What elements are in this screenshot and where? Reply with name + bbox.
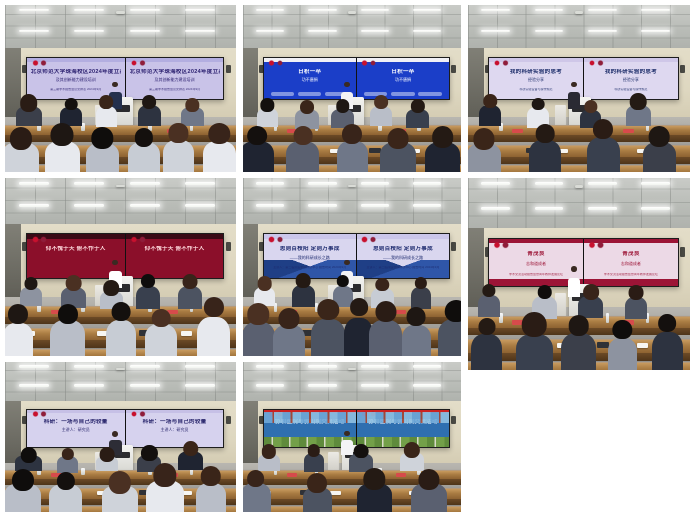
person-head [375, 301, 396, 322]
wall-speaker [451, 65, 456, 73]
person-shoulders [587, 137, 620, 172]
audience-member [5, 127, 39, 172]
person-head [20, 94, 38, 112]
ceiling-light [413, 9, 441, 12]
slide-footer: 科研实验设备与操作规范 [588, 88, 674, 92]
person-head [248, 303, 269, 324]
ceiling-light [130, 384, 160, 386]
slide-title: 青茂良 [493, 251, 579, 258]
person-shoulders [311, 319, 345, 356]
audience-member [478, 284, 499, 317]
person-head [537, 285, 552, 300]
presenter-head [112, 82, 118, 88]
ceiling-light [481, 207, 510, 210]
person-head [152, 309, 171, 328]
person-head [100, 447, 115, 462]
person-head [411, 99, 425, 113]
audience-member [357, 468, 392, 512]
ceiling-light [361, 182, 389, 185]
ceiling-projector [575, 11, 584, 13]
person-shoulders [516, 334, 552, 370]
person-shoulders [243, 141, 274, 172]
slide-title: 日积一卒 [361, 69, 446, 76]
person-shoulders [608, 338, 637, 370]
slide-subtitle: 经验分享 [588, 77, 674, 82]
person-head [10, 127, 32, 149]
wall-speaker [226, 242, 231, 251]
ceiling-light [130, 9, 160, 12]
person-head [613, 320, 632, 339]
slide-panel: 思则百枝阳 定则万事成——我的科研成长之路主讲人：第二临床医学院科研中心 报告时… [357, 234, 449, 278]
ceiling-light [256, 182, 284, 185]
university-logo-icon [268, 236, 274, 243]
ceiling [5, 5, 236, 50]
person-head [108, 471, 130, 493]
ceiling-light [361, 204, 389, 207]
ceiling-light [185, 365, 215, 367]
ceiling-light [19, 204, 49, 207]
slide-title: 北京师范大学珠海校区2024年度立高质量文化科研及教学能力建设培训 [130, 69, 220, 76]
university-logo-icon [589, 60, 596, 67]
person-head [65, 98, 78, 111]
lecture-hall-scene: 科研：一场与自己的较量主讲人：研究员科研：一场与自己的较量主讲人：研究员 [5, 362, 236, 512]
audience-member [102, 471, 138, 512]
ceiling-light [256, 204, 284, 207]
person-head [342, 124, 362, 144]
audience-member [145, 309, 177, 356]
person-head [337, 275, 349, 287]
ceiling-projector [348, 11, 357, 13]
ceiling-light [130, 182, 160, 185]
slide-panel: 科研：一场与自己的较量主讲人：研究员 [126, 410, 224, 447]
person-head [388, 128, 409, 149]
slide-title: 青茂良 [588, 251, 674, 258]
audience-member [16, 94, 42, 126]
person-head [58, 304, 78, 324]
side-cabinet [328, 452, 339, 472]
presenter-body [568, 92, 580, 109]
ceiling [468, 5, 690, 50]
person-head [318, 299, 339, 320]
slide-subtitle: 主讲人：研究员 [130, 427, 220, 432]
university-logo-icon [131, 60, 138, 67]
lecture-photo: 我的科研实验的思考经验分享科研实验设备与操作规范我的科研实验的思考经验分享科研实… [468, 5, 690, 172]
person-head [201, 466, 222, 487]
slide-panel: 仰不愧于天 俯不怍于人 [126, 234, 224, 278]
slide-footer: 第三期学术报告会议安排表 2024年9月 [130, 88, 220, 92]
person-shoulders [243, 322, 275, 356]
slide-subtitle: 经验分享 [493, 77, 579, 82]
person-head [374, 95, 388, 109]
person-head [649, 126, 670, 147]
slide-title: 思则百枝阳 定则万事成 [361, 246, 446, 253]
person-head [432, 126, 454, 148]
audience-member [625, 285, 648, 319]
ceiling [5, 178, 236, 226]
audience-member [254, 276, 276, 306]
audience-member [257, 98, 278, 126]
slide-campus-photo-strip [264, 412, 356, 422]
audience-member [50, 304, 84, 356]
audience-member [608, 320, 637, 370]
slide-subtitle: 功不唐捐 [361, 77, 446, 82]
slide-footer: 学术交流活动报告会暨青年教师发展论坛 [493, 273, 579, 277]
audience-member [273, 308, 305, 356]
presenter-head [344, 431, 349, 436]
lecture-hall-scene: 思则百枝阳 定则万事成——我的科研成长之路主讲人：第二临床医学院科研中心 报告时… [243, 178, 461, 356]
bench-back [5, 135, 236, 142]
ceiling-light [535, 182, 564, 185]
person-head [473, 128, 494, 149]
ceiling-light [413, 384, 441, 386]
audience-member [587, 119, 620, 172]
slide-title: 北京师范大学珠海校区2024年度立高质量文化科研及教学能力建设培训 [31, 69, 121, 76]
person-head [354, 444, 369, 459]
notebook-page [181, 331, 193, 335]
person-head [209, 123, 230, 144]
wall-speaker [680, 65, 685, 73]
university-logo-icon [131, 236, 138, 243]
presenter-head [571, 266, 576, 271]
person-head [257, 276, 272, 291]
lecture-hall-scene: 日积一卒功不唐捐日积一卒功不唐捐 [243, 5, 461, 172]
audience-member [402, 307, 431, 356]
ceiling-light [185, 384, 215, 386]
person-shoulders [561, 333, 596, 370]
wall-speaker [451, 416, 456, 424]
person-head [478, 318, 495, 335]
audience-member [136, 274, 160, 309]
secondary-logo-icon [40, 60, 47, 67]
secondary-logo-icon [370, 60, 376, 67]
person-head [300, 100, 314, 114]
person-shoulders [273, 325, 305, 356]
university-logo-icon [268, 60, 274, 67]
person-shoulders [203, 141, 236, 172]
lecture-hall-scene: 北京师范大学珠海校区2024年度立高质量文化科研及教学能力建设培训及其创新能力建… [5, 5, 236, 172]
ceiling-light [588, 207, 617, 210]
wall-speaker [680, 247, 685, 257]
slide-campus-photo-strip [357, 412, 449, 422]
ceiling-light [308, 9, 336, 12]
person-head [247, 470, 265, 488]
person-head [65, 275, 82, 292]
audience-member [5, 304, 33, 356]
slide-pill-row [271, 92, 349, 96]
name-card [512, 129, 523, 133]
university-logo-icon [131, 411, 138, 417]
notebook-page [637, 343, 648, 348]
slide-subtitle: 及其创新能力建设培训 [130, 77, 220, 82]
audience-member [243, 126, 274, 172]
person-head [415, 277, 427, 289]
audience-member [106, 302, 137, 356]
ceiling-light [19, 9, 49, 12]
ceiling-light [308, 182, 336, 185]
person-head [169, 123, 188, 142]
audience-member [163, 123, 194, 172]
slide-footer: 科研实验设备与操作规范 [493, 88, 579, 92]
ceiling-light [535, 9, 564, 12]
ceiling-light [641, 182, 670, 185]
ceiling-projector [348, 368, 357, 370]
lecture-photo: 协和医院与佛山院交流活动协和医院与佛山院交流活动 [243, 362, 461, 512]
audience-member [311, 299, 345, 356]
ceiling-projector [348, 185, 357, 187]
led-presentation-wall: 仰不愧于天 俯不怍于人仰不愧于天 俯不怍于人 [26, 233, 225, 279]
lecture-photo: 仰不愧于天 俯不怍于人仰不愧于天 俯不怍于人 [5, 178, 236, 356]
lecture-photo: 科研：一场与自己的较量主讲人：研究员科研：一场与自己的较量主讲人：研究员 [5, 362, 236, 512]
person-shoulders [196, 483, 227, 512]
audience-member [49, 472, 81, 512]
person-shoulders [337, 141, 367, 172]
ceiling-light [308, 204, 336, 207]
slide-panel: 日积一卒功不唐捐 [357, 58, 449, 99]
lecture-photo: 北京师范大学珠海校区2024年度立高质量文化科研及教学能力建设培训及其创新能力建… [5, 5, 236, 172]
audience-member [197, 297, 230, 356]
person-head [569, 315, 590, 336]
slide-title: 日积一卒 [267, 69, 352, 76]
audience-member [146, 463, 184, 512]
person-shoulders [50, 320, 84, 356]
slide-subtitle: 志和道成者 [493, 261, 579, 266]
secondary-logo-icon [502, 241, 509, 249]
ceiling-light [588, 182, 617, 185]
person-head [135, 128, 153, 146]
slide-subtitle: 功不唐捐 [267, 77, 352, 82]
person-head [182, 274, 197, 289]
secondary-logo-icon [277, 60, 283, 67]
ceiling-light [130, 365, 160, 367]
person-head [141, 274, 155, 288]
university-logo-icon [589, 241, 596, 249]
led-presentation-wall: 日积一卒功不唐捐日积一卒功不唐捐 [263, 57, 451, 100]
ceiling-light [19, 365, 49, 367]
person-shoulders [652, 332, 683, 370]
ceiling-projector [116, 185, 125, 187]
secondary-logo-icon [139, 236, 146, 243]
presenter [568, 82, 580, 109]
person-head [629, 285, 644, 300]
ceiling-light [535, 207, 564, 210]
ceiling-light [413, 182, 441, 185]
slide-title: 我的科研实验的思考 [588, 69, 674, 76]
audience-member [128, 128, 160, 172]
person-head [51, 123, 74, 146]
ceiling-light [481, 182, 510, 185]
person-head [294, 126, 313, 145]
person-head [583, 284, 599, 300]
ceiling-light [308, 384, 336, 386]
ceiling-projector [116, 11, 125, 13]
ceiling-light [641, 207, 670, 210]
ceiling-light [74, 204, 104, 207]
empty-grid-cell [468, 376, 690, 521]
audience-member [57, 448, 78, 473]
audience-member [561, 315, 596, 370]
person-head [296, 273, 311, 288]
university-logo-icon [494, 241, 501, 249]
ceiling-light [74, 182, 104, 185]
ceiling [5, 362, 236, 403]
person-head [350, 298, 368, 316]
person-head [658, 314, 676, 332]
lecture-hall-scene: 协和医院与佛山院交流活动协和医院与佛山院交流活动 [243, 362, 461, 512]
person-head [56, 472, 74, 490]
audience-member [45, 123, 80, 172]
person-shoulders [197, 317, 230, 356]
audience-member [203, 123, 236, 172]
person-head [522, 312, 547, 337]
ceiling-light [185, 204, 215, 207]
slide-pill [271, 92, 294, 96]
lecture-hall-scene: 青茂良志和道成者学术交流活动报告会暨青年教师发展论坛青茂良志和道成者学术交流活动… [468, 178, 690, 370]
audience-member [529, 124, 561, 172]
person-head [24, 277, 37, 290]
audience-member [258, 444, 280, 471]
person-head [104, 280, 120, 296]
audience-member [86, 127, 118, 172]
audience-member [369, 301, 402, 356]
slide-subtitle: 主讲人：研究员 [31, 427, 121, 432]
audience-member [400, 442, 424, 471]
slide-footer: 第三期学术报告会议安排表 2024年9月 [31, 88, 121, 92]
ceiling-light [641, 9, 670, 12]
audience-member [337, 124, 367, 172]
ceiling-light [185, 182, 215, 185]
slide-title: 我的科研实验的思考 [493, 69, 579, 76]
university-logo-icon [32, 236, 39, 243]
person-head [483, 94, 497, 108]
person-shoulders [128, 142, 160, 172]
university-logo-icon [494, 60, 501, 67]
ceiling-light [361, 365, 389, 367]
person-head [153, 463, 176, 486]
secondary-logo-icon [139, 411, 146, 417]
university-logo-icon [361, 60, 367, 67]
slide-title: 科研：一场与自己的较量 [130, 419, 220, 426]
wall-side-panel [243, 401, 258, 464]
audience-member [20, 277, 41, 307]
wall-speaker [226, 416, 231, 424]
audience-member [479, 94, 502, 126]
wall-speaker [226, 65, 231, 73]
university-logo-icon [32, 60, 39, 67]
slide-pill [418, 92, 441, 96]
audience-member [406, 99, 429, 127]
audience-member [286, 126, 319, 172]
audience-member [516, 312, 552, 370]
ceiling-projector [116, 368, 125, 370]
person-shoulders [286, 141, 319, 172]
person-shoulders [163, 140, 194, 172]
person-shoulders [625, 297, 648, 319]
ceiling-light [256, 384, 284, 386]
name-card [396, 473, 407, 477]
person-shoulders [471, 334, 501, 370]
lecture-photo: 青茂良志和道成者学术交流活动报告会暨青年教师发展论坛青茂良志和道成者学术交流活动… [468, 178, 690, 370]
slide-footer: 主讲人：第二临床医学院科研中心 报告时间 2024年9月 [267, 266, 352, 270]
ceiling-light [308, 365, 336, 367]
person-shoulders [5, 323, 33, 356]
person-head [8, 304, 28, 324]
person-head [247, 126, 267, 146]
audience-desk [5, 165, 236, 172]
led-presentation-wall: 青茂良志和道成者学术交流活动报告会暨青年教师发展论坛青茂良志和道成者学术交流活动… [488, 238, 679, 288]
secondary-logo-icon [597, 241, 604, 249]
led-presentation-wall: 北京师范大学珠海校区2024年度立高质量文化科研及教学能力建设培训及其创新能力建… [26, 57, 225, 100]
ceiling-light [19, 384, 49, 386]
ceiling-light [361, 9, 389, 12]
audience-member [96, 447, 118, 471]
audience-member [626, 93, 651, 126]
lecture-photo: 思则百枝阳 定则万事成——我的科研成长之路主讲人：第二临床医学院科研中心 报告时… [243, 178, 461, 356]
person-head [584, 100, 597, 113]
university-logo-icon [361, 236, 367, 243]
slide-subtitle: 及其创新能力建设培训 [31, 77, 121, 82]
audience-member [471, 318, 501, 370]
person-shoulders [145, 324, 177, 356]
audience-member [380, 128, 416, 172]
ceiling-light [256, 365, 284, 367]
ceiling [243, 362, 461, 403]
audience-member [196, 466, 227, 512]
slide-subtitle: ——我的科研成长之路 [267, 255, 352, 260]
audience-member [5, 469, 41, 512]
slide-title: 仰不愧于天 俯不怍于人 [130, 246, 220, 253]
audience-member [138, 95, 162, 126]
person-shoulders [106, 320, 137, 356]
person-head [12, 469, 34, 491]
ceiling [468, 178, 690, 230]
slide-panel: 北京师范大学珠海校区2024年度立高质量文化科研及教学能力建设培训及其创新能力建… [126, 58, 224, 99]
photo-collage-grid: 北京师范大学珠海校区2024年度立高质量文化科研及教学能力建设培训及其创新能力建… [0, 0, 694, 521]
presenter-head [344, 260, 349, 265]
person-head [532, 98, 545, 111]
presenter-head [344, 82, 349, 87]
ceiling-light [413, 204, 441, 207]
slide-title: 思则百枝阳 定则万事成 [267, 246, 352, 253]
audience-member [303, 473, 333, 512]
ceiling-light [588, 9, 617, 12]
lecture-hall-scene: 我的科研实验的思考经验分享科研实验设备与操作规范我的科研实验的思考经验分享科研实… [468, 5, 690, 172]
lecture-photo: 日积一卒功不唐捐日积一卒功不唐捐 [243, 5, 461, 172]
slide-title: 仰不愧于天 俯不怍于人 [31, 246, 121, 253]
audience-member [468, 128, 501, 172]
audience-member [370, 95, 392, 126]
wall-side-panel [243, 48, 258, 118]
ceiling-projector [575, 185, 584, 188]
audience-member [411, 469, 447, 512]
presenter-head [112, 431, 118, 437]
person-head [307, 473, 327, 493]
wall-speaker [451, 242, 456, 251]
secondary-logo-icon [139, 60, 146, 67]
secondary-logo-icon [277, 236, 283, 243]
university-logo-icon [32, 411, 39, 417]
slide-title: 科研：一场与自己的较量 [31, 419, 121, 426]
audience-member [181, 98, 203, 126]
audience-desk [5, 145, 236, 157]
ceiling [243, 178, 461, 226]
ceiling [243, 5, 461, 50]
secondary-logo-icon [597, 60, 604, 67]
ceiling-light [74, 384, 104, 386]
audience-member [411, 277, 431, 309]
person-head [630, 93, 647, 110]
person-shoulders [479, 105, 502, 127]
ceiling-light [413, 365, 441, 367]
